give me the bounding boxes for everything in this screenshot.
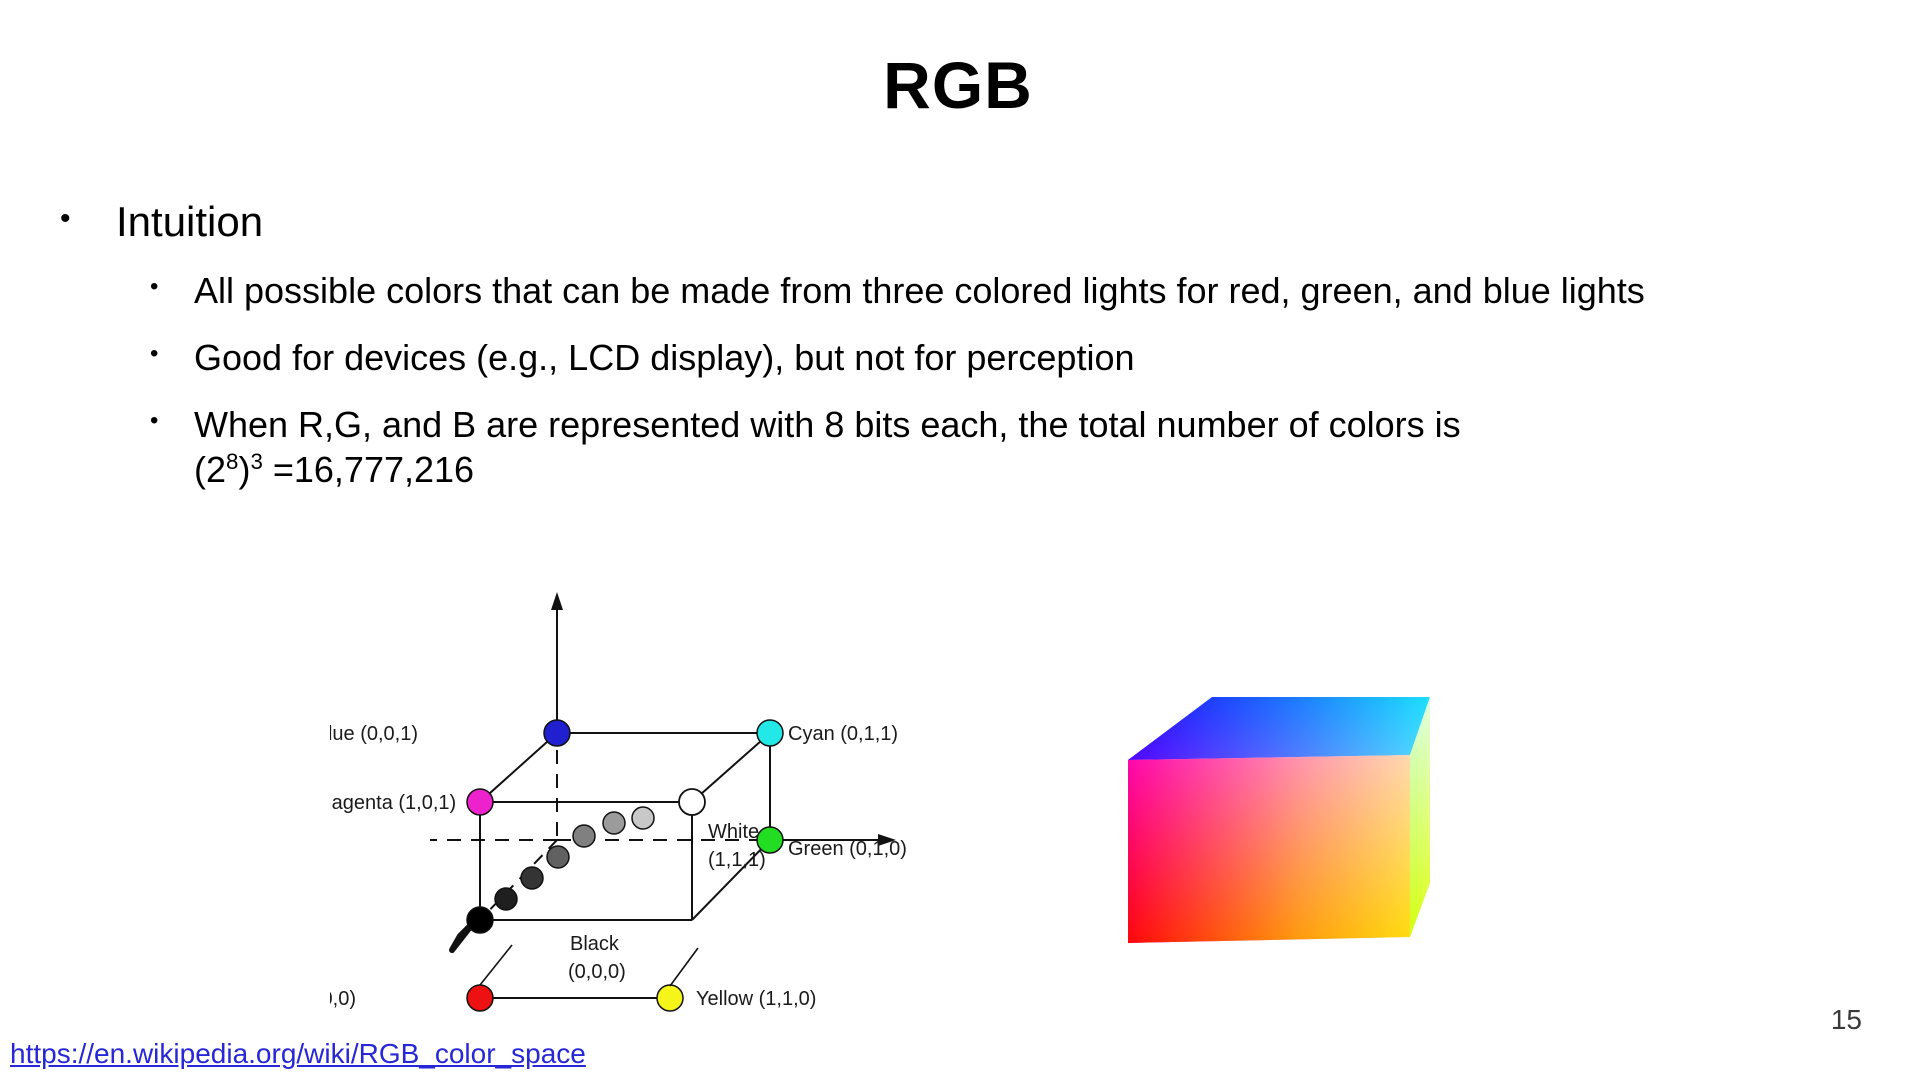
slide-number: 15: [1831, 1004, 1862, 1036]
vertex-cyan: [757, 720, 783, 746]
vertex-magenta: [467, 789, 493, 815]
label-white-line1: White: [708, 821, 759, 843]
bullet-marker-icon: •: [60, 196, 71, 241]
bullet-level2-text: Good for devices (e.g., LCD display), bu…: [194, 337, 1134, 378]
grayscale-diagonal-dots: [469, 807, 654, 931]
slide-body: • Intuition • All possible colors that c…: [46, 198, 1846, 492]
bullet-level2-text: When R,G, and B are represented with 8 b…: [194, 404, 1461, 445]
bullet-level2-8-bits-total-colors: • When R,G, and B are represented with 8…: [46, 402, 1846, 492]
vertex-white: [679, 789, 705, 815]
label-red: Red (1,0,0): [330, 988, 356, 1010]
formula-result: =16,777,216: [263, 449, 474, 490]
rgb-color-cube-image: [1120, 665, 1472, 955]
rgb-cube-wireframe-diagram: Blue (0,0,1) Cyan (0,1,1) Magenta (1,0,1…: [330, 590, 1070, 1020]
bullet-level2-good-for-devices: • Good for devices (e.g., LCD display), …: [46, 335, 1846, 380]
label-cyan: Cyan (0,1,1): [788, 723, 898, 745]
page-title: RGB: [0, 52, 1916, 118]
label-black-line2: (0,0,0): [568, 961, 626, 983]
bullet-level2-text: All possible colors that can be made fro…: [194, 270, 1645, 311]
vertex-yellow: [657, 985, 683, 1011]
label-white-line2: (1,1,1): [708, 849, 766, 871]
formula-open: (2: [194, 449, 226, 490]
bullet-level1-text: Intuition: [116, 198, 263, 245]
label-black-line1: Black: [570, 933, 620, 955]
bullet-level2-all-possible-colors: • All possible colors that can be made f…: [46, 268, 1846, 313]
source-link[interactable]: https://en.wikipedia.org/wiki/RGB_color_…: [10, 1038, 586, 1070]
bullet-marker-icon: •: [150, 402, 158, 440]
formula-exponent-8: 8: [226, 449, 238, 474]
axis-lines: [430, 600, 890, 920]
formula-total-colors: (28)3 =16,777,216: [194, 449, 474, 490]
vertex-blue: [544, 720, 570, 746]
bullet-level1-intuition: • Intuition: [46, 198, 1846, 246]
label-magenta: Magenta (1,0,1): [330, 792, 456, 814]
bullet-marker-icon: •: [150, 335, 158, 373]
label-green: Green (0,1,0): [788, 838, 907, 860]
label-yellow: Yellow (1,1,0): [696, 988, 816, 1010]
label-blue: Blue (0,0,1): [330, 723, 418, 745]
formula-close: ): [238, 449, 250, 490]
vertex-red: [467, 985, 493, 1011]
axis-arrow-blue: [551, 592, 563, 610]
formula-exponent-3: 3: [250, 449, 262, 474]
bullet-marker-icon: •: [150, 268, 158, 306]
